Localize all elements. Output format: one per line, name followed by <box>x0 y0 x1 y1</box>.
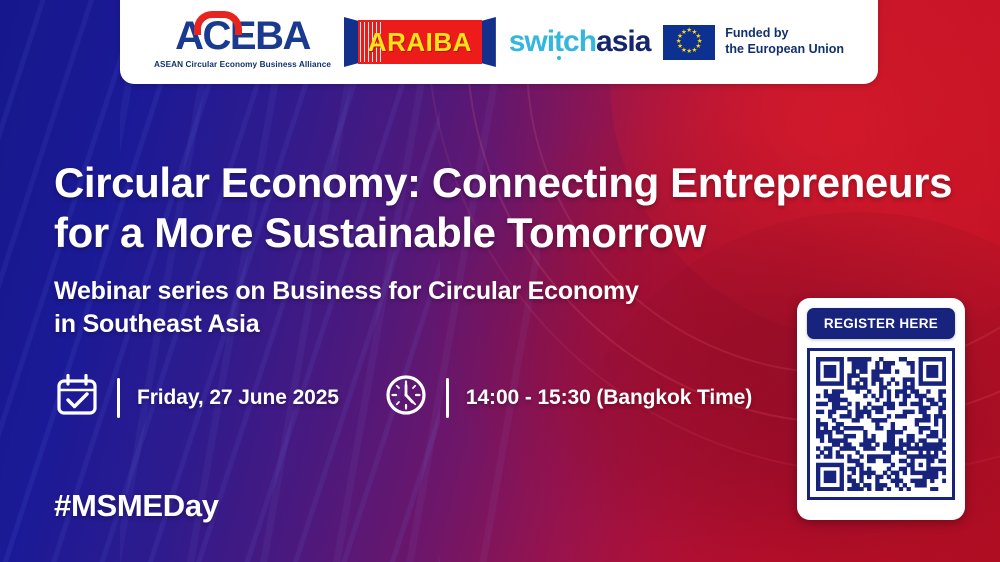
subtitle-line-1: Webinar series on Business for Circular … <box>54 275 754 308</box>
register-here-button[interactable]: REGISTER HERE <box>807 308 955 339</box>
meta-divider-2 <box>446 378 449 418</box>
eu-funding-line2: the European Union <box>725 42 844 58</box>
eu-funding-line1: Funded by <box>725 26 844 42</box>
sponsor-logo-bar: ACEBA ASEAN Circular Economy Business Al… <box>120 0 878 84</box>
aceba-tagline: ASEAN Circular Economy Business Alliance <box>154 60 331 69</box>
subtitle-line-2: in Southeast Asia <box>54 308 754 341</box>
meta-divider-1 <box>117 378 120 418</box>
eu-star-icon: ★ <box>692 48 698 55</box>
event-time: 14:00 - 15:30 (Bangkok Time) <box>466 386 752 410</box>
eu-funding-logo: ★★★★★★★★★★★★ Funded by the European Unio… <box>663 25 844 60</box>
aceba-logo: ACEBA ASEAN Circular Economy Business Al… <box>154 16 331 69</box>
qr-code-frame <box>807 348 955 500</box>
webinar-promo-banner: ACEBA ASEAN Circular Economy Business Al… <box>0 0 1000 562</box>
switchasia-wordmark-asia: asia <box>596 25 650 59</box>
clock-icon <box>383 372 429 423</box>
event-time-group: 14:00 - 15:30 (Bangkok Time) <box>383 372 752 423</box>
event-meta-row: Friday, 27 June 2025 <box>54 372 752 423</box>
headline-line-1: Circular Economy: Connecting Entrepreneu… <box>54 158 954 208</box>
page-subtitle: Webinar series on Business for Circular … <box>54 275 754 341</box>
event-date: Friday, 27 June 2025 <box>137 386 339 410</box>
page-title: Circular Economy: Connecting Entrepreneu… <box>54 158 954 259</box>
eu-flag-icon: ★★★★★★★★★★★★ <box>663 25 715 60</box>
hashtag: #MSMEDay <box>54 488 219 524</box>
switchasia-wordmark-switch: switch <box>509 25 596 59</box>
eu-star-icon: ★ <box>681 30 687 37</box>
calendar-check-icon <box>54 372 100 423</box>
eu-star-icon: ★ <box>686 49 692 56</box>
registration-qr-code[interactable] <box>816 357 946 491</box>
eu-funding-text: Funded by the European Union <box>725 26 844 57</box>
switchasia-logo: switchasia <box>509 25 651 59</box>
event-date-group: Friday, 27 June 2025 <box>54 372 339 423</box>
araiba-logo: ARAIBA <box>344 15 496 69</box>
switchasia-dot-icon <box>557 56 561 60</box>
register-card: REGISTER HERE <box>797 298 965 520</box>
aceba-arc-icon <box>194 11 242 35</box>
headline-line-2: for a More Sustainable Tomorrow <box>54 208 954 258</box>
araiba-wordmark: ARAIBA <box>368 27 472 58</box>
